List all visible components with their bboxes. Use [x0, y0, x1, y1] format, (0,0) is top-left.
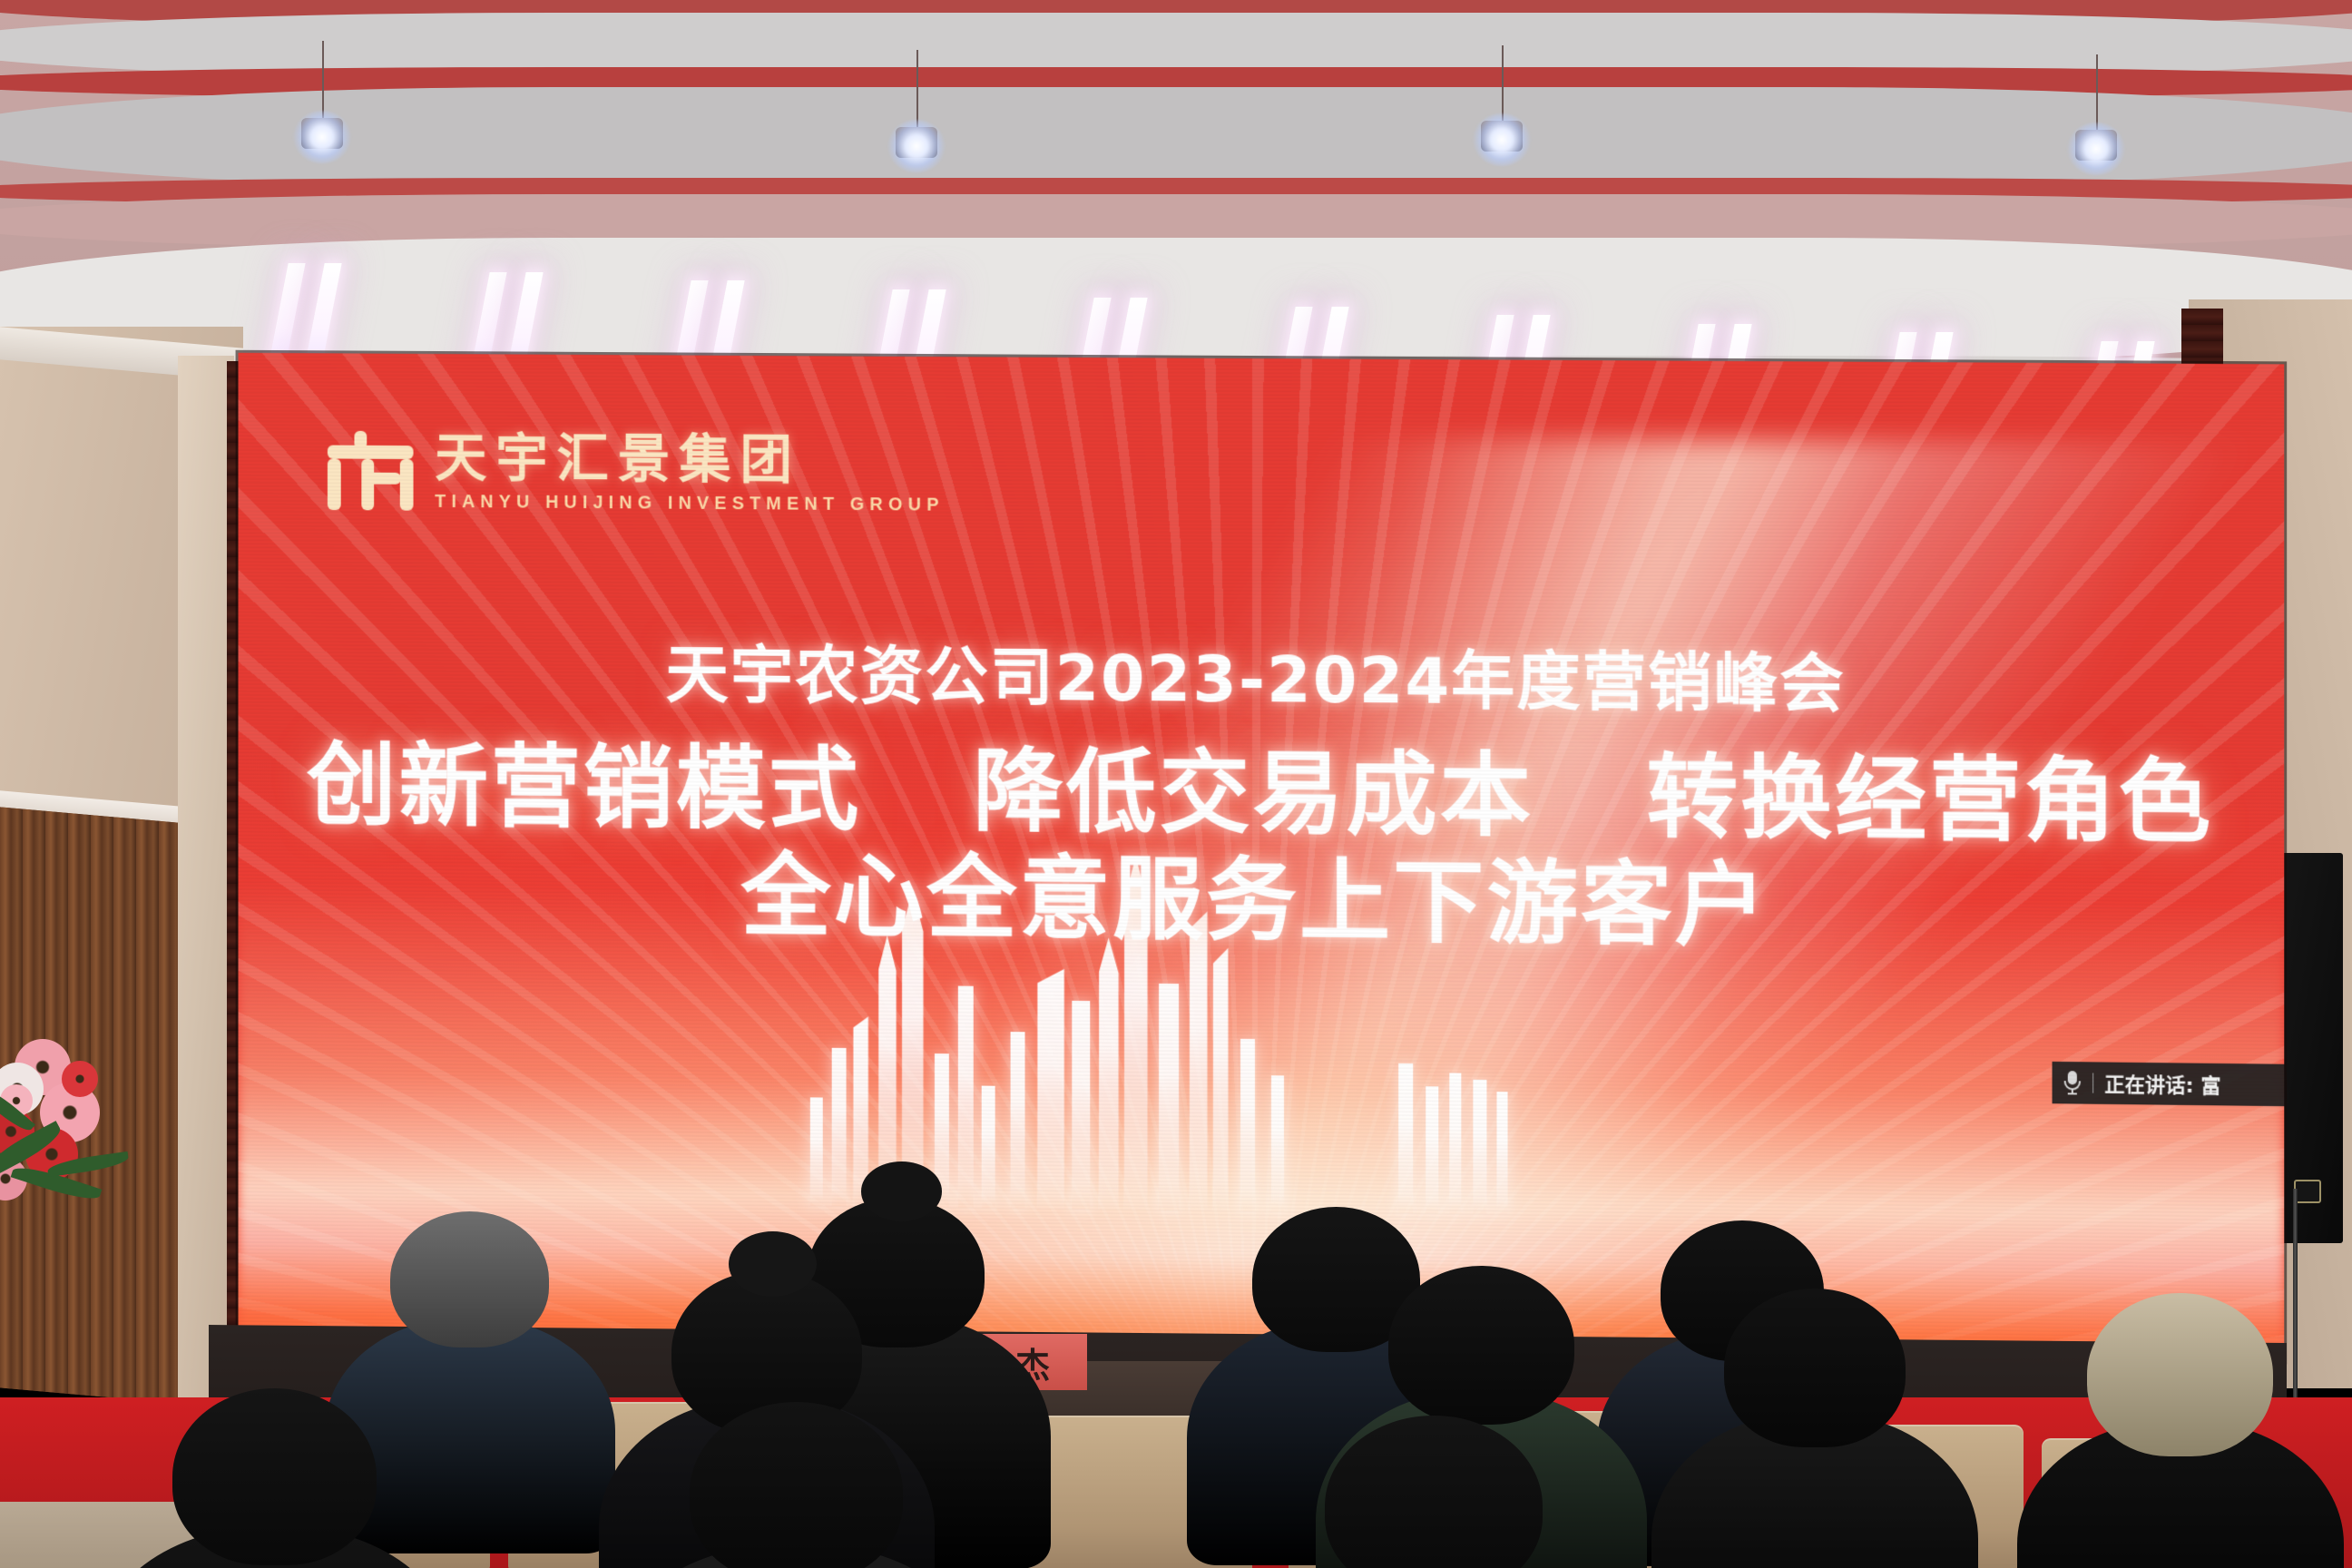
conference-hall-photo: 天宇汇景集团 TIANYU HUIJING INVESTMENT GROUP 天…	[0, 0, 2352, 1568]
ceiling-band	[0, 87, 2352, 187]
spotlight-wire	[2096, 54, 2098, 130]
pa-speaker-badge	[2294, 1180, 2321, 1203]
audience-member-head	[1388, 1266, 1574, 1425]
led-scanlines	[239, 353, 2285, 1362]
audience-member-head	[390, 1211, 549, 1347]
audience-member-head	[172, 1388, 377, 1565]
audience-member-hair-bun	[729, 1231, 817, 1297]
spotlight-wire	[1502, 45, 1504, 121]
spotlight-glow	[293, 111, 351, 163]
audience-member-head	[1724, 1289, 1906, 1447]
spotlight-glow	[2067, 122, 2125, 175]
left-pillar	[178, 356, 234, 1399]
flower-arrangement	[0, 1021, 147, 1257]
spotlight-glow	[1473, 113, 1531, 166]
led-stage-screen: 天宇汇景集团 TIANYU HUIJING INVESTMENT GROUP 天…	[239, 353, 2285, 1362]
flower-bloom	[62, 1061, 98, 1097]
spotlight-wire	[916, 50, 918, 127]
spotlight-glow	[887, 120, 946, 172]
audience-member-hair-bun	[861, 1161, 943, 1221]
spotlight-wire	[322, 41, 324, 118]
audience-member-head	[2087, 1293, 2273, 1456]
